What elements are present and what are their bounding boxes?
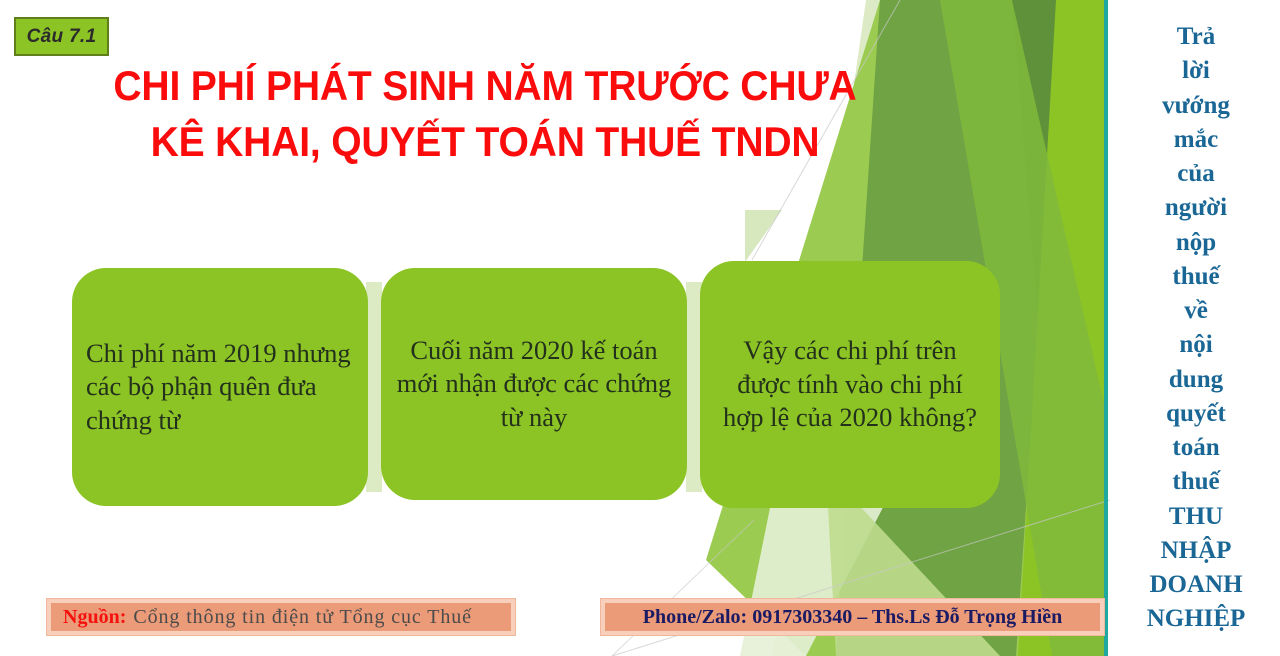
source-footer-inner: Nguồn: Cổng thông tin điện tử Tổng cục T… xyxy=(51,603,511,631)
sidebar-word: DOANH xyxy=(1149,568,1242,602)
page-title: CHI PHÍ PHÁT SINH NĂM TRƯỚC CHƯA KÊ KHAI… xyxy=(99,58,871,170)
bright-green-strip xyxy=(1018,0,1104,656)
contact-footer-bar: Phone/Zalo: 0917303340 – Ths.Ls Đỗ Trọng… xyxy=(600,598,1105,636)
sidebar-word: nộp xyxy=(1176,226,1216,260)
sidebar-word: thuế xyxy=(1172,260,1219,294)
sidebar-word: NGHIỆP xyxy=(1147,602,1246,636)
sidebar-vertical-heading: Trả lời vướng mắc của người nộp thuế về … xyxy=(1112,20,1280,637)
deep-green-accent xyxy=(1012,0,1104,420)
light-green-column xyxy=(1012,0,1104,656)
process-box-3-text: Vậy các chi phí trên được tính vào chi p… xyxy=(714,334,986,435)
source-label: Nguồn: xyxy=(63,606,126,629)
sidebar-word: về xyxy=(1184,294,1208,328)
sidebar-word: THU xyxy=(1169,500,1223,534)
process-box-3: Vậy các chi phí trên được tính vào chi p… xyxy=(700,261,1000,508)
sidebar-word: lời xyxy=(1182,54,1210,88)
question-number-badge: Câu 7.1 xyxy=(14,17,109,56)
process-box-2: Cuối năm 2020 kế toán mới nhận được các … xyxy=(381,268,687,500)
pale-wedge-top xyxy=(745,210,782,262)
sidebar-word: NHẬP xyxy=(1161,534,1232,568)
sidebar-word: nội xyxy=(1179,328,1212,362)
process-box-1-text: Chi phí năm 2019 nhưng các bộ phận quên … xyxy=(86,337,354,438)
sidebar-word: quyết xyxy=(1166,397,1226,431)
pale-wedge-bottom xyxy=(742,525,795,578)
question-number-label: Câu 7.1 xyxy=(27,26,97,48)
sidebar-word: Trả xyxy=(1177,20,1215,54)
box-connector-1 xyxy=(366,282,382,492)
slide-canvas: Câu 7.1 CHI PHÍ PHÁT SINH NĂM TRƯỚC CHƯA… xyxy=(0,0,1280,656)
process-box-2-text: Cuối năm 2020 kế toán mới nhận được các … xyxy=(395,334,673,435)
sidebar-word: dung xyxy=(1169,363,1223,397)
contact-footer-inner: Phone/Zalo: 0917303340 – Ths.Ls Đỗ Trọng… xyxy=(605,603,1100,631)
source-footer-bar: Nguồn: Cổng thông tin điện tử Tổng cục T… xyxy=(46,598,516,636)
sidebar-word: người xyxy=(1165,191,1227,225)
source-value: Cổng thông tin điện tử Tổng cục Thuế xyxy=(133,606,472,629)
sidebar-word: toán xyxy=(1172,431,1219,465)
process-box-1: Chi phí năm 2019 nhưng các bộ phận quên … xyxy=(72,268,368,506)
teal-divider-line xyxy=(1104,0,1108,656)
sidebar-word: vướng xyxy=(1162,89,1230,123)
sidebar-word: thuế xyxy=(1172,465,1219,499)
contact-text: Phone/Zalo: 0917303340 – Ths.Ls Đỗ Trọng… xyxy=(643,606,1063,629)
sidebar-word: mắc xyxy=(1174,123,1218,157)
sidebar-word: của xyxy=(1177,157,1215,191)
